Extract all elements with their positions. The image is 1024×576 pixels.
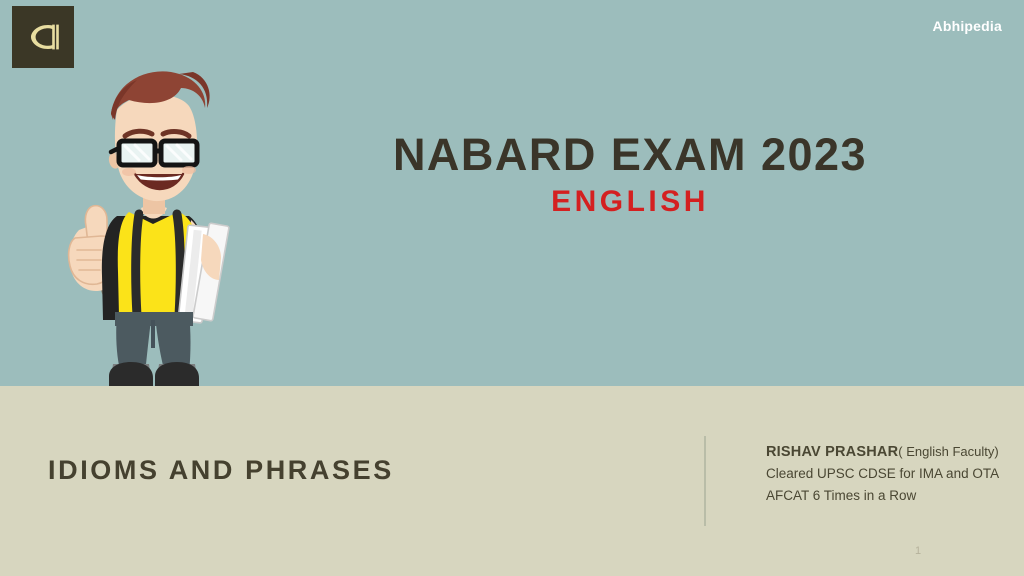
page-title: NABARD EXAM 2023 <box>330 131 930 178</box>
faculty-name: RISHAV PRASHAR <box>766 444 898 460</box>
vertical-divider <box>704 436 706 526</box>
presentation-slide: Abhipedia <box>0 0 1024 576</box>
topic-heading: IDIOMS AND PHRASES <box>48 455 394 486</box>
faculty-info-block: RISHAV PRASHAR( English Faculty) Cleared… <box>766 441 1016 507</box>
student-character-illustration <box>55 48 270 388</box>
brand-name-label: Abhipedia <box>933 18 1002 34</box>
faculty-name-line: RISHAV PRASHAR( English Faculty) <box>766 441 1016 463</box>
faculty-credential-line-1: Cleared UPSC CDSE for IMA and OTA <box>766 463 1016 485</box>
page-subtitle: ENGLISH <box>330 186 930 218</box>
page-number: 1 <box>915 545 921 557</box>
faculty-role: ( English Faculty) <box>898 444 998 459</box>
faculty-credential-line-2: AFCAT 6 Times in a Row <box>766 485 1016 507</box>
